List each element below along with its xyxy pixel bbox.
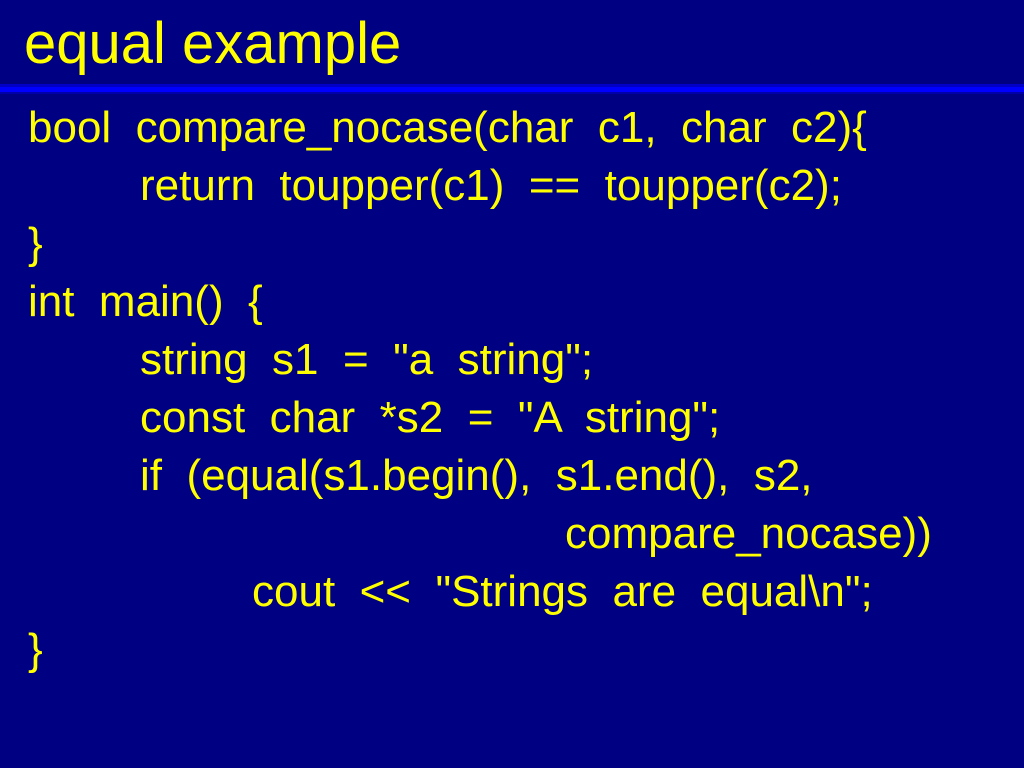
page-title: equal example: [24, 6, 1004, 84]
code-line: string s1 = "a string";: [0, 331, 1024, 389]
code-line: int main() {: [0, 273, 1024, 331]
title-rule-shadow-bottom: [0, 92, 1024, 94]
code-line: bool compare_nocase(char c1, char c2){: [0, 99, 1024, 157]
code-line: const char *s2 = "A string";: [0, 389, 1024, 447]
slide: equal example bool compare_nocase(char c…: [0, 0, 1024, 768]
code-line: if (equal(s1.begin(), s1.end(), s2,: [0, 447, 1024, 505]
code-line: }: [0, 621, 1024, 679]
code-line: }: [0, 215, 1024, 273]
code-line: cout << "Strings are equal\n";: [0, 563, 1024, 621]
code-line: compare_nocase)): [0, 505, 1024, 563]
code-line: return toupper(c1) == toupper(c2);: [0, 157, 1024, 215]
code-block: bool compare_nocase(char c1, char c2){ r…: [0, 99, 1024, 699]
